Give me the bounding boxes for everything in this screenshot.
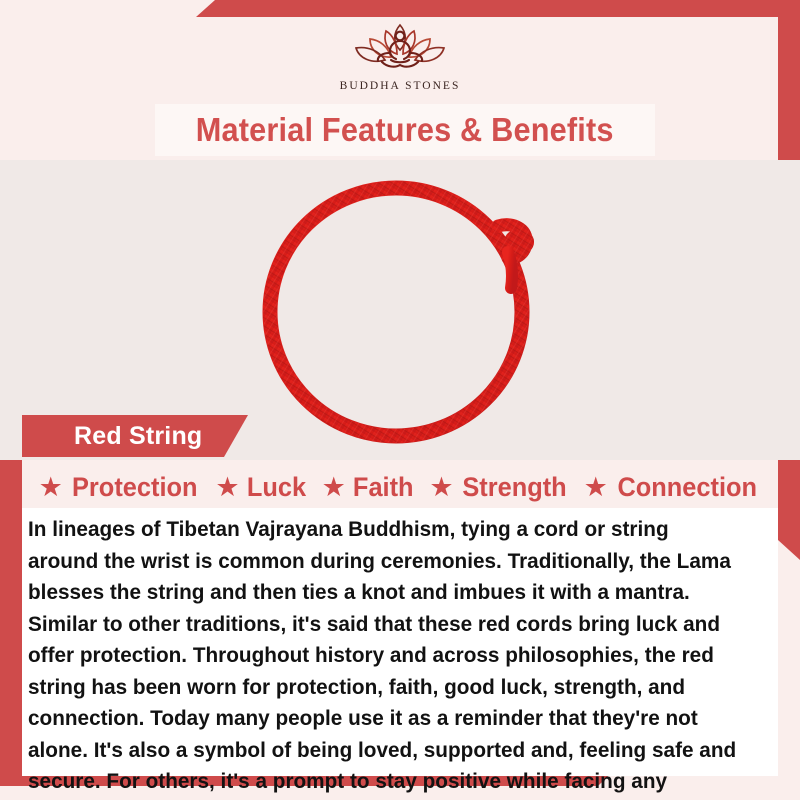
product-label-text: Red String bbox=[74, 422, 202, 451]
feature-item-protection: ★ Protection bbox=[39, 472, 202, 503]
infographic-page: BUDDHA STONES Material Features & Benefi… bbox=[0, 0, 800, 800]
brand-logo: BUDDHA STONES bbox=[0, 17, 800, 107]
feature-label: Protection bbox=[72, 472, 198, 503]
description-text: In lineages of Tibetan Vajrayana Buddhis… bbox=[28, 514, 738, 800]
star-icon: ★ bbox=[39, 474, 63, 501]
feature-label: Strength bbox=[462, 472, 566, 503]
star-icon: ★ bbox=[429, 474, 453, 501]
description-block: In lineages of Tibetan Vajrayana Buddhis… bbox=[22, 508, 778, 776]
decorative-top-bar bbox=[196, 0, 800, 17]
feature-item-faith: ★ Faith bbox=[322, 472, 416, 503]
feature-label: Connection bbox=[617, 472, 757, 503]
star-icon: ★ bbox=[215, 474, 239, 501]
feature-label: Faith bbox=[353, 472, 414, 503]
feature-item-strength: ★ Strength bbox=[429, 472, 569, 503]
brand-name: BUDDHA STONES bbox=[340, 80, 461, 92]
red-braided-string-bracelet-image bbox=[236, 164, 576, 464]
lotus-meditation-figure-icon bbox=[325, 17, 475, 79]
feature-item-luck: ★ Luck bbox=[215, 472, 307, 503]
page-title-text: Material Features & Benefits bbox=[196, 111, 614, 149]
feature-label: Luck bbox=[247, 472, 306, 503]
feature-list: ★ Protection ★ Luck ★ Faith ★ Strength ★… bbox=[0, 466, 800, 508]
page-title: Material Features & Benefits bbox=[155, 104, 655, 156]
star-icon: ★ bbox=[322, 474, 346, 501]
star-icon: ★ bbox=[584, 474, 608, 501]
feature-item-connection: ★ Connection bbox=[584, 472, 762, 503]
product-label-ribbon: Red String bbox=[22, 415, 248, 457]
